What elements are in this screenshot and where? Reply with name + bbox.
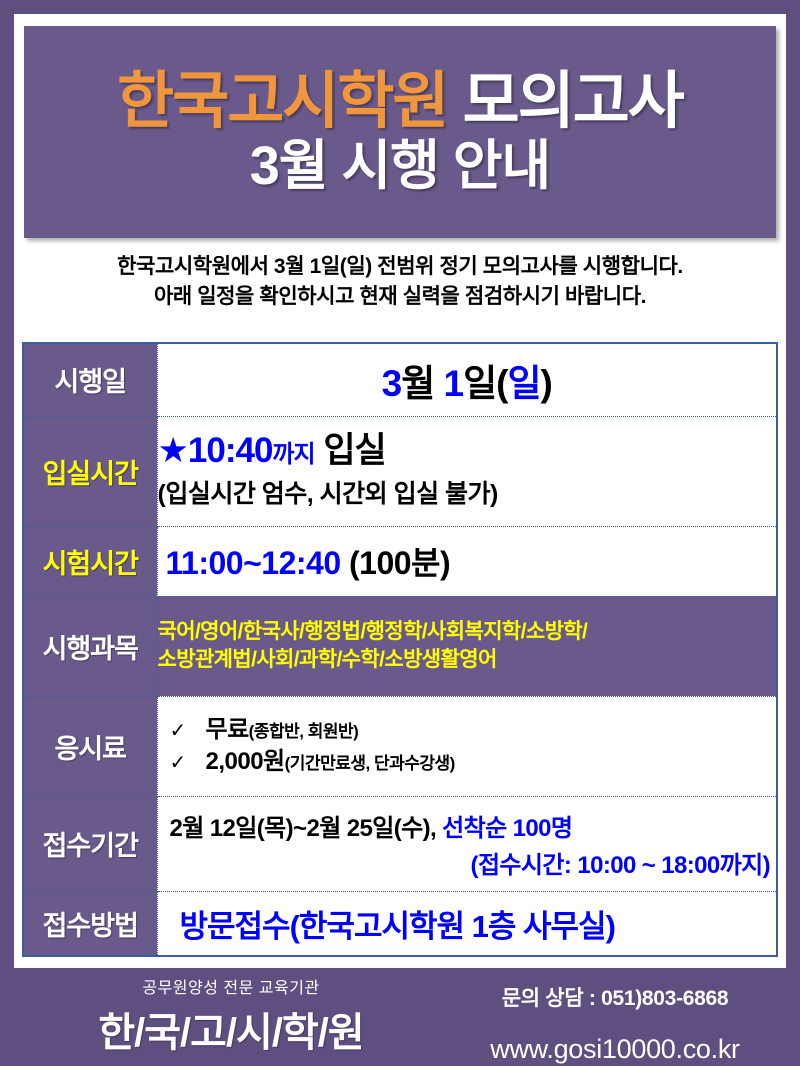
subjects-line-2: 소방관계법/사회/과학/수학/소방생활영어 [158, 646, 777, 674]
footer-phone: 문의 상담 : 051)803-6868 [440, 982, 790, 1012]
title-organization: 한국고시학원 [117, 67, 447, 136]
intro-paragraph: 한국고시학원에서 3월 1일(일) 전범위 정기 모의고사를 시행합니다. 아래… [24, 252, 776, 313]
poster-title-line2: 3월 시행 안내 [250, 138, 550, 195]
table-row-exam-time: 시험시간 11:00~12:40 (100분) [23, 526, 777, 596]
row-label-fee: 응시료 [23, 696, 157, 796]
intro-line-2: 아래 일정을 확인하시고 현재 실력을 점검하시기 바랍니다. [24, 282, 776, 312]
entry-time-action: 입실 [315, 431, 386, 470]
check-icon: ✓ [158, 718, 206, 745]
exam-time-duration: (100분) [341, 545, 451, 581]
intro-line-1: 한국고시학원에서 3월 1일(일) 전범위 정기 모의고사를 시행합니다. [24, 252, 776, 282]
fee-item-free: ✓ 무료 (종합반, 회원반) [158, 714, 777, 746]
row-label-application-method: 접수방법 [23, 891, 157, 956]
star-icon: ★ [158, 431, 188, 470]
application-quota: 선착순 100명 [442, 815, 572, 842]
application-method-text: 방문접수(한국고시학원 1층 사무실) [158, 901, 777, 946]
exam-date-month-number: 3 [382, 363, 402, 404]
poster-footer: 공무원양성 전문 교육기관 한/국/고/시/학/원 문의 상담 : 051)80… [0, 968, 800, 1066]
exam-time-range: 11:00~12:40 [166, 545, 341, 581]
exam-date-day-number: 1 [444, 363, 464, 404]
table-row-entry-time: 입실시간 ★10:40까지 입실 (입실시간 엄수, 시간외 입실 불가) [23, 416, 777, 526]
exam-date-month-unit: 월 [401, 363, 443, 404]
entry-time-value: 10:40 [188, 431, 273, 470]
row-value-application-method: 방문접수(한국고시학원 1층 사무실) [157, 891, 777, 956]
exam-date-day-unit: 일( [463, 363, 507, 404]
footer-brand-block: 공무원양성 전문 교육기관 한/국/고/시/학/원 [46, 974, 416, 1058]
table-row-subjects: 시행과목 국어/영어/한국사/행정법/행정학/사회복지학/소방학/ 소방관계법/… [23, 596, 777, 696]
fee-free-note: (종합반, 회원반) [249, 721, 359, 744]
check-icon: ✓ [158, 750, 206, 777]
entry-time-main: ★10:40까지 입실 [158, 432, 777, 471]
title-mock-exam: 모의고사 [447, 67, 682, 136]
fee-paid-amount: 2,000원 [206, 746, 285, 778]
row-label-application-period: 접수기간 [23, 796, 157, 891]
table-row-fee: 응시료 ✓ 무료 (종합반, 회원반) ✓ 2,000원 (기간만료생, 단과수… [23, 696, 777, 796]
row-label-subjects: 시행과목 [23, 596, 157, 696]
fee-item-paid: ✓ 2,000원 (기간만료생, 단과수강생) [158, 746, 777, 778]
exam-info-table: 시행일 3월 1일(일) 입실시간 ★10:40까지 입실 (입실시간 엄수, … [22, 342, 778, 957]
poster-root: 한국고시학원 모의고사 3월 시행 안내 한국고시학원에서 3월 1일(일) 전… [0, 0, 800, 1066]
row-label-entry-time: 입실시간 [23, 416, 157, 526]
footer-tagline: 공무원양성 전문 교육기관 [46, 974, 416, 998]
footer-contact-block: 문의 상담 : 051)803-6868 www.gosi10000.co.kr [440, 982, 790, 1065]
row-value-entry-time: ★10:40까지 입실 (입실시간 엄수, 시간외 입실 불가) [157, 416, 777, 526]
exam-time-text: 11:00~12:40 (100분) [158, 538, 777, 584]
row-label-exam-time: 시험시간 [23, 526, 157, 596]
application-period-line-1: 2월 12일(목)~2월 25일(수), 선착순 100명 [158, 808, 777, 843]
table-row-application-method: 접수방법 방문접수(한국고시학원 1층 사무실) [23, 891, 777, 956]
poster-title-line1: 한국고시학원 모의고사 [117, 69, 683, 134]
row-value-exam-date: 3월 1일(일) [157, 343, 777, 416]
row-value-subjects: 국어/영어/한국사/행정법/행정학/사회복지학/소방학/ 소방관계법/사회/과학… [157, 596, 777, 696]
row-value-exam-time: 11:00~12:40 (100분) [157, 526, 777, 596]
row-value-fee: ✓ 무료 (종합반, 회원반) ✓ 2,000원 (기간만료생, 단과수강생) [157, 696, 777, 796]
row-value-application-period: 2월 12일(목)~2월 25일(수), 선착순 100명 (접수시간: 10:… [157, 796, 777, 891]
table-row-exam-date: 시행일 3월 1일(일) [23, 343, 777, 416]
row-label-exam-date: 시행일 [23, 343, 157, 416]
entry-time-suffix: 까지 [272, 441, 314, 468]
footer-website-url[interactable]: www.gosi10000.co.kr [440, 1034, 790, 1065]
fee-free-amount: 무료 [206, 714, 249, 746]
application-period-dates: 2월 12일(목)~2월 25일(수), [170, 815, 443, 842]
exam-date-paren-close: ) [541, 363, 552, 404]
entry-time-note: (입실시간 엄수, 시간외 입실 불가) [158, 474, 777, 510]
exam-date-text: 3월 1일(일) [158, 353, 777, 407]
footer-brand-name: 한/국/고/시/학/원 [46, 1000, 416, 1058]
exam-date-weekday: 일 [507, 363, 540, 404]
application-period-hours: (접수시간: 10:00 ~ 18:00까지) [158, 845, 777, 880]
fee-paid-note: (기간만료생, 단과수강생) [285, 753, 455, 776]
table-row-application-period: 접수기간 2월 12일(목)~2월 25일(수), 선착순 100명 (접수시간… [23, 796, 777, 891]
subjects-line-1: 국어/영어/한국사/행정법/행정학/사회복지학/소방학/ [158, 618, 777, 646]
header-banner: 한국고시학원 모의고사 3월 시행 안내 [24, 26, 776, 238]
